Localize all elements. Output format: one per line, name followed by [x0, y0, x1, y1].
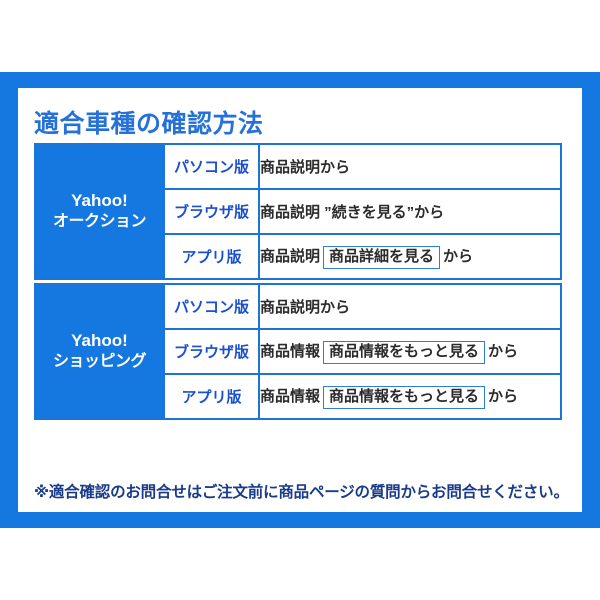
brand-label-line1: Yahoo! [36, 331, 163, 352]
instruction-suffix: から [488, 343, 518, 360]
boxed-button-label[interactable]: 商品情報をもっと見る [323, 341, 485, 364]
instruction-prefix: 商品説明から [260, 299, 350, 316]
promo-image: 適合車種の確認方法 Yahoo! オークション パソコン版 商品説明から [0, 0, 600, 600]
instruction-prefix: 商品説明 ”続きを見る”から [260, 204, 444, 221]
instruction-prefix: 商品情報 [260, 343, 320, 360]
instruction-cell: 商品情報商品情報をもっと見るから [259, 374, 561, 419]
instruction-cell: 商品情報商品情報をもっと見るから [259, 329, 561, 374]
brand-cell-shopping: Yahoo! ショッピング [35, 284, 164, 419]
instruction-prefix: 商品説明 [260, 248, 320, 265]
instruction-cell: 商品説明から [259, 144, 561, 189]
footer-note: ※適合確認のお問合せはご注文前に商品ページの質問からお問合せください。 [34, 480, 569, 502]
device-label-browser: ブラウザ版 [164, 189, 259, 234]
table-row: Yahoo! オークション パソコン版 商品説明から [35, 144, 561, 189]
device-label-app: アプリ版 [164, 234, 259, 279]
boxed-button-label[interactable]: 商品詳細を見る [323, 246, 440, 269]
table-row: Yahoo! ショッピング パソコン版 商品説明から [35, 284, 561, 329]
device-label-browser: ブラウザ版 [164, 329, 259, 374]
frame-inner-panel: 適合車種の確認方法 Yahoo! オークション パソコン版 商品説明から [18, 88, 582, 512]
instruction-cell: 商品説明から [259, 284, 561, 329]
instruction-suffix: から [443, 248, 473, 265]
verification-methods-table: Yahoo! オークション パソコン版 商品説明から ブラウザ版 商品説明 ”続… [34, 143, 562, 420]
instruction-prefix: 商品説明から [260, 159, 350, 176]
instruction-cell: 商品説明商品詳細を見るから [259, 234, 561, 279]
instruction-cell: 商品説明 ”続きを見る”から [259, 189, 561, 234]
brand-label-line1: Yahoo! [36, 191, 163, 212]
device-label-pc: パソコン版 [164, 284, 259, 329]
device-label-app: アプリ版 [164, 374, 259, 419]
instruction-prefix: 商品情報 [260, 388, 320, 405]
device-label-pc: パソコン版 [164, 144, 259, 189]
instruction-suffix: から [488, 388, 518, 405]
page-title: 適合車種の確認方法 [34, 104, 264, 140]
blue-frame: 適合車種の確認方法 Yahoo! オークション パソコン版 商品説明から [0, 72, 600, 528]
boxed-button-label[interactable]: 商品情報をもっと見る [323, 386, 485, 409]
brand-label-line2: オークション [36, 212, 163, 232]
brand-label-line2: ショッピング [36, 352, 163, 372]
brand-cell-auction: Yahoo! オークション [35, 144, 164, 279]
